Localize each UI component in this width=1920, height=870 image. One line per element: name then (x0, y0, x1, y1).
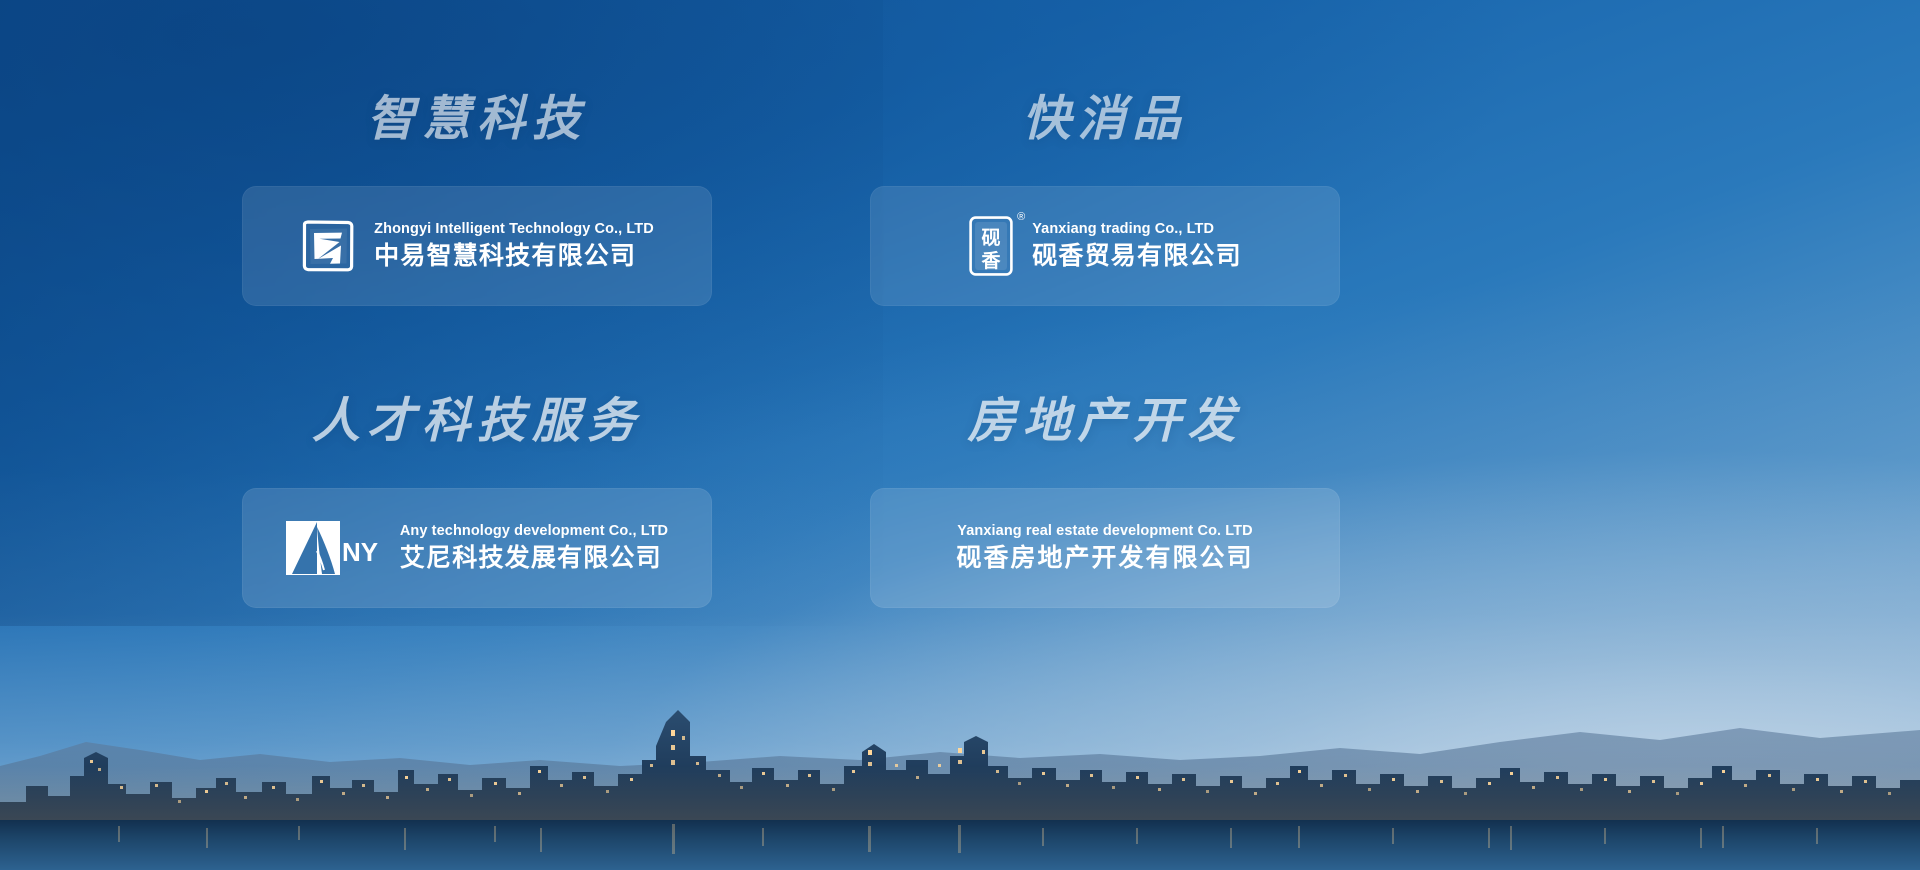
section-real-estate: 房地产开发 Yanxiang real estate development C… (870, 398, 1340, 608)
company-name-cn: 中易智慧科技有限公司 (374, 240, 654, 273)
seal-glyph-top: 砚 (982, 227, 1001, 249)
section-fmcg: 快消品 砚 香 ® Yanxiang trading Co., LTD 砚香贸易… (870, 96, 1340, 306)
yanxiang-seal-logo: 砚 香 ® (968, 215, 1014, 277)
section-title-talent-services: 人才科技服务 (242, 398, 712, 446)
section-smart-technology: 智慧科技 Zhongyi Intelligent Technology Co.,… (242, 96, 712, 306)
section-talent-services: 人才科技服务 NY Any technology development Co.… (242, 398, 712, 608)
section-title-smart-technology: 智慧科技 (242, 96, 712, 144)
company-name-en: Yanxiang real estate development Co. LTD (957, 522, 1252, 540)
company-name-en: Zhongyi Intelligent Technology Co., LTD (374, 220, 654, 238)
page-root: 智慧科技 Zhongyi Intelligent Technology Co.,… (0, 0, 1920, 870)
section-title-fmcg: 快消品 (870, 96, 1340, 144)
yanxiang-trading-text: Yanxiang trading Co., LTD 砚香贸易有限公司 (1032, 220, 1242, 273)
any-text: Any technology development Co., LTD 艾尼科技… (400, 522, 668, 575)
company-card-any[interactable]: NY Any technology development Co., LTD 艾… (242, 488, 712, 608)
zhongyi-logo (300, 218, 356, 274)
any-logo: NY (286, 522, 382, 574)
company-name-en: Any technology development Co., LTD (400, 522, 668, 540)
registered-trademark-icon: ® (1017, 212, 1025, 223)
zhongyi-text: Zhongyi Intelligent Technology Co., LTD … (374, 220, 654, 273)
seal-glyph-bottom: 香 (981, 250, 1002, 272)
company-card-zhongyi[interactable]: Zhongyi Intelligent Technology Co., LTD … (242, 186, 712, 306)
section-title-real-estate: 房地产开发 (870, 398, 1340, 446)
any-logo-wordmark: NY (342, 537, 378, 567)
company-name-cn: 艾尼科技发展有限公司 (400, 542, 668, 575)
yanxiang-real-estate-text: Yanxiang real estate development Co. LTD… (956, 522, 1253, 575)
company-name-cn: 砚香房地产开发有限公司 (956, 542, 1253, 575)
company-name-cn: 砚香贸易有限公司 (1032, 240, 1242, 273)
company-card-yanxiang-real-estate[interactable]: Yanxiang real estate development Co. LTD… (870, 488, 1340, 608)
content-layer: 智慧科技 Zhongyi Intelligent Technology Co.,… (0, 0, 1920, 870)
company-name-en: Yanxiang trading Co., LTD (1032, 220, 1242, 238)
company-card-yanxiang-trading[interactable]: 砚 香 ® Yanxiang trading Co., LTD 砚香贸易有限公司 (870, 186, 1340, 306)
